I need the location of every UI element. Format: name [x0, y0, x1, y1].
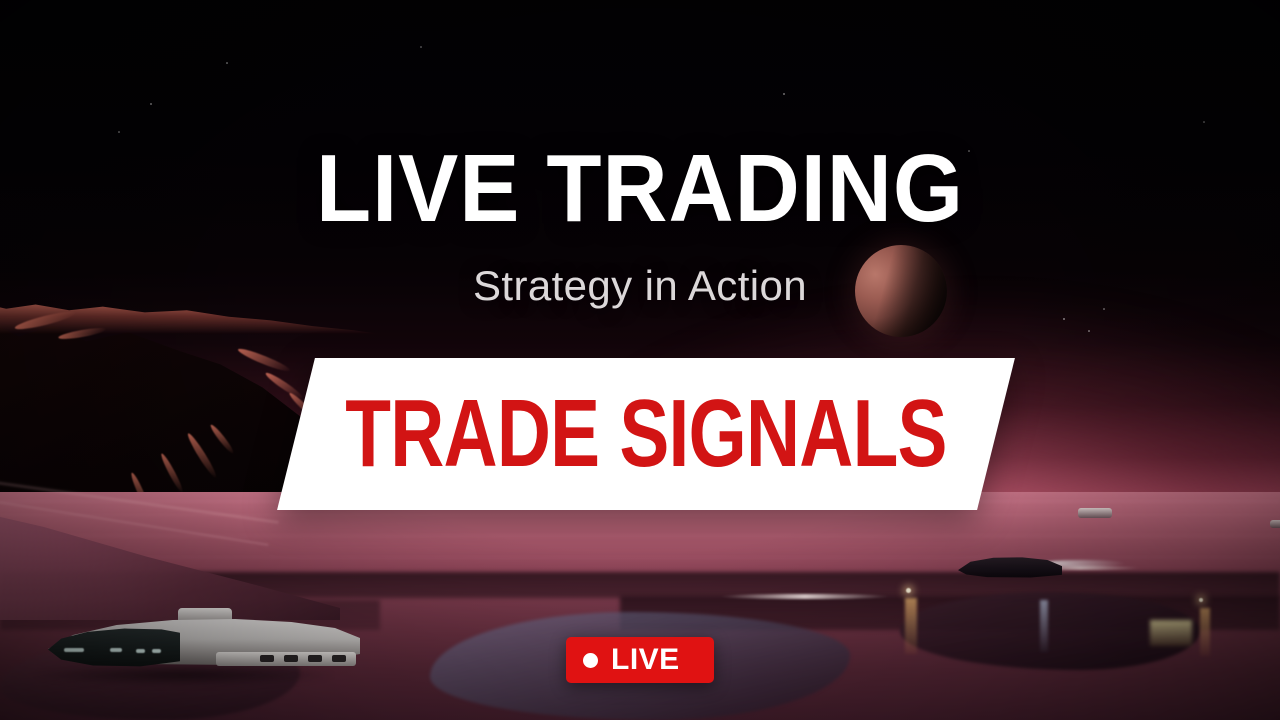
page-title: LIVE TRADING — [38, 141, 1241, 237]
live-badge-label: LIVE — [611, 645, 680, 675]
trade-signals-banner: TRADE SIGNALS — [296, 358, 996, 510]
live-dot-icon — [583, 653, 598, 668]
video-frame: LIVE TRADING Strategy in Action TRADE SI… — [0, 0, 1280, 720]
page-subtitle: Strategy in Action — [0, 262, 1280, 310]
status-badge: LIVE — [566, 637, 714, 683]
banner-label: TRADE SIGNALS — [373, 358, 919, 510]
text-overlay: LIVE TRADING Strategy in Action TRADE SI… — [0, 0, 1280, 720]
